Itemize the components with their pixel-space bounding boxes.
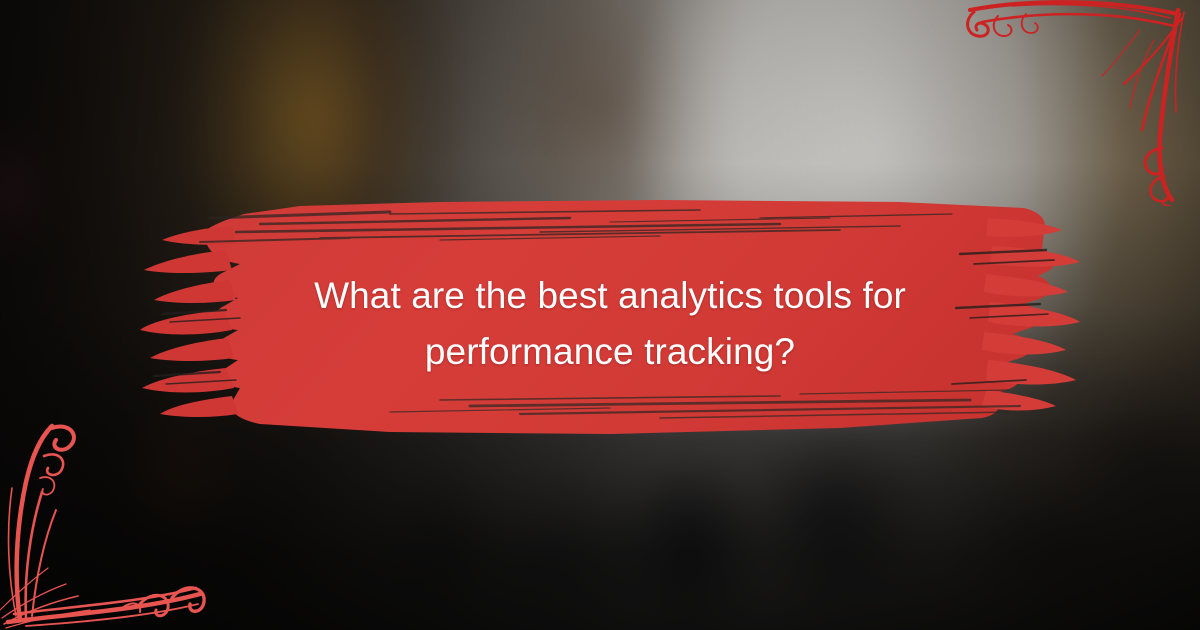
question-card: What are the best analytics tools for pe… [0, 0, 1200, 630]
page-title: What are the best analytics tools for pe… [150, 268, 1070, 380]
